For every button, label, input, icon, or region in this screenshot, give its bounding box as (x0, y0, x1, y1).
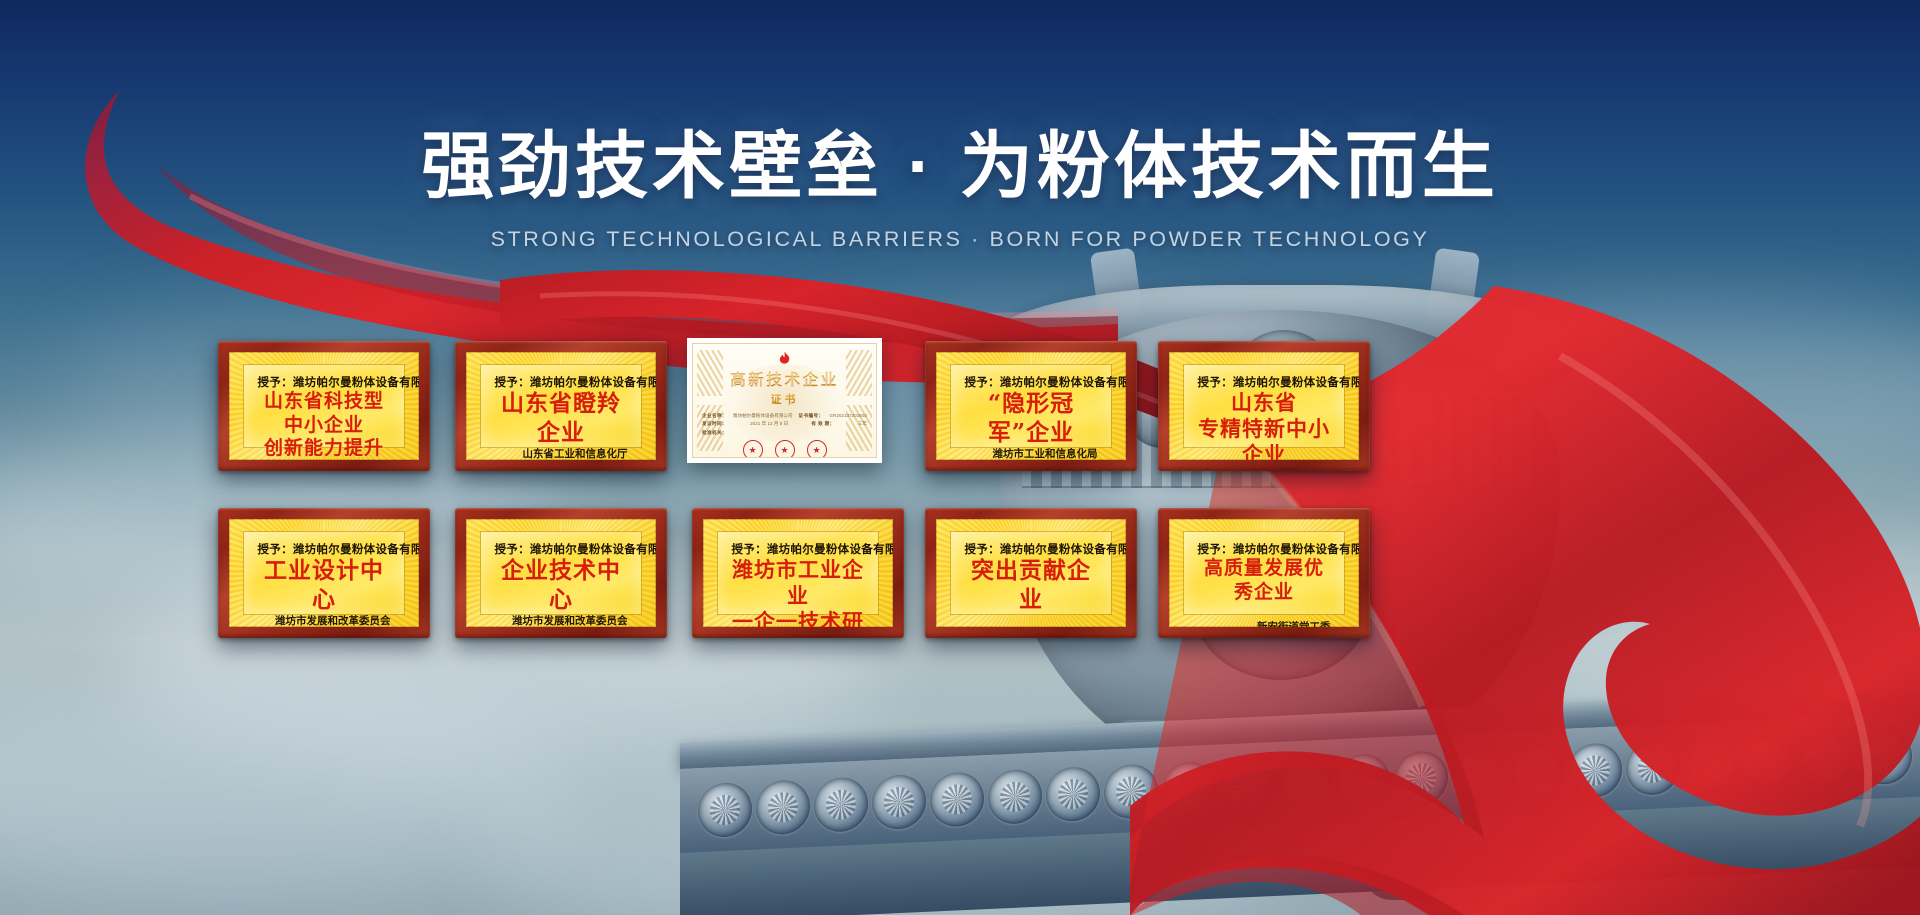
award-plaque[interactable]: 授予：潍坊帕尔曼粉体设备有限公司 山东省瞪羚企业 山东省工业和信息化厅 二〇二三… (455, 341, 667, 471)
plaque-grantee: 授予：潍坊帕尔曼粉体设备有限公司 (257, 374, 390, 390)
official-seal-icon: ★ (807, 440, 827, 458)
award-plaque[interactable]: 授予：潍坊帕尔曼粉体设备有限公司 企业技术中心 潍坊市发展和改革委员会 二〇二二… (455, 508, 667, 638)
field-value: 2021 年 12 月 8 日 (750, 420, 788, 428)
plaque-issuer: 新安街道党工委 新安街道办事处 (1197, 620, 1330, 627)
certificate-seals: ★ ★ ★ (743, 440, 827, 458)
plinth-medallion-icon (1742, 734, 1796, 790)
plinth-medallion-icon (1336, 753, 1390, 809)
field-value: 三年 (858, 420, 867, 428)
plinth-medallion-icon (756, 779, 810, 835)
certificate-title: 高新技术企业 (730, 368, 839, 390)
plaque-title-line: 一企一技术研发中心企业 (731, 609, 864, 627)
plinth-medallion-icon (698, 782, 752, 838)
plaque-issuer: 潍坊市发展和改革委员会 (494, 614, 627, 627)
field-value: 潍坊帕尔曼粉体设备有限公司 (733, 412, 793, 420)
stone-plinth (680, 725, 1920, 915)
plaque-title: 企业技术中心 (494, 557, 627, 613)
plaque-title-line: 突出贡献企业 (964, 557, 1097, 613)
plinth-medallion-icon (1104, 763, 1158, 819)
award-plaque[interactable]: 授予：潍坊帕尔曼粉体设备有限公司 突出贡献企业 中共官庄镇委 官庄镇人民政府 二… (925, 508, 1137, 638)
plaque-footer: 潍坊市发展和改革委员会 二〇二二年七月 (494, 614, 627, 627)
plinth-medallion-icon (1220, 758, 1274, 814)
plinth-medallion-icon (1394, 750, 1448, 806)
award-plaque[interactable]: 授予：潍坊帕尔曼粉体设备有限公司 潍坊市工业企业 一企一技术研发中心企业 潍坊市… (692, 508, 904, 638)
plaque-title-line: “隐形冠军”企业 (964, 390, 1097, 446)
plaque-grantee: 授予：潍坊帕尔曼粉体设备有限公司 (964, 541, 1097, 557)
field-value: GR202137201602 (829, 412, 867, 420)
page-title: 强劲技术壁垒 · 为粉体技术而生 (0, 128, 1920, 207)
plaque-title-line: 潍坊市工业企业 (731, 557, 864, 608)
headline-block: 强劲技术壁垒 · 为粉体技术而生 STRONG TECHNOLOGICAL BA… (0, 128, 1920, 252)
plaque-title-line: 高质量发展优秀企业 (1197, 557, 1330, 603)
plinth-medallion-icon (1510, 745, 1564, 801)
field-key: 发证时间： (702, 420, 727, 428)
flame-logo-icon (776, 351, 793, 367)
plaque-title: 工业设计中心 (257, 557, 390, 613)
plaque-title-line: 专精特新中小企业 (1197, 416, 1330, 460)
plaque-title: 山东省瞪羚企业 (494, 390, 627, 446)
plaque-title: 突出贡献企业 (964, 557, 1097, 613)
award-plaque[interactable]: 授予：潍坊帕尔曼粉体设备有限公司 “隐形冠军”企业 潍坊市工业和信息化局 二〇二… (925, 341, 1137, 471)
plaque-title-line: 山东省瞪羚企业 (494, 390, 627, 446)
hero-banner: 强劲技术壁垒 · 为粉体技术而生 STRONG TECHNOLOGICAL BA… (0, 0, 1920, 915)
plaque-grantee: 授予：潍坊帕尔曼粉体设备有限公司 (1197, 374, 1330, 390)
plinth-medallion-icon (1278, 755, 1332, 811)
plinth-medallion-icon (872, 774, 926, 830)
plaque-title: 山东省科技型中小企业 创新能力提升工程立项单位 (257, 390, 390, 460)
certificate-field-row: 发证时间： 2021 年 12 月 8 日 有 效 期： 三年 (702, 420, 867, 428)
plaque-grantee: 授予：潍坊帕尔曼粉体设备有限公司 (1197, 541, 1330, 557)
plaque-grantee: 授予：潍坊帕尔曼粉体设备有限公司 (257, 541, 390, 557)
official-seal-icon: ★ (775, 440, 795, 458)
plinth-medallion-icon (1800, 732, 1854, 788)
plaque-issuer: 潍坊市工业和信息化局 (964, 447, 1097, 460)
award-plaque[interactable]: 授予：潍坊帕尔曼粉体设备有限公司 高质量发展优秀企业 新安街道党工委 新安街道办… (1158, 508, 1370, 638)
plaque-grantee: 授予：潍坊帕尔曼粉体设备有限公司 (964, 374, 1097, 390)
plinth-medallion-icon (1626, 740, 1680, 796)
award-plaque[interactable]: 授予：潍坊帕尔曼粉体设备有限公司 山东省 专精特新中小企业 山东省工业和信息化厅 (1158, 341, 1370, 471)
certificate-subtitle: 证书 (771, 391, 799, 407)
plaque-grantee: 授予：潍坊帕尔曼粉体设备有限公司 (731, 541, 864, 557)
plaque-footer: 山东省工业和信息化厅 二〇二三年七月 (494, 447, 627, 460)
plaque-title-line: 企业技术中心 (494, 557, 627, 613)
plaque-issuer: 潍坊市发展和改革委员会 (257, 614, 390, 627)
field-key: 批准机关： (702, 429, 727, 437)
plaque-grantee: 授予：潍坊帕尔曼粉体设备有限公司 (494, 374, 627, 390)
plaque-title: 潍坊市工业企业 一企一技术研发中心企业 (731, 557, 864, 627)
plinth-medallion-icon (1684, 737, 1738, 793)
plinth-medallion-icon (930, 771, 984, 827)
plinth-medallion-icon (814, 776, 868, 832)
certificate-fields: 企业名称： 潍坊帕尔曼粉体设备有限公司 证书编号： GR202137201602… (693, 412, 876, 437)
certificate-field-row: 企业名称： 潍坊帕尔曼粉体设备有限公司 证书编号： GR202137201602 (702, 412, 867, 420)
plinth-medallion-icon (1858, 729, 1912, 785)
plaque-title-line: 山东省科技型中小企业 (257, 390, 390, 436)
plaque-issuer: 山东省工业和信息化厅 (494, 447, 627, 460)
plaque-footer: 潍坊市工业和信息化局 二〇二二年十一月 (964, 447, 1097, 460)
field-key: 企业名称： (702, 412, 727, 420)
plaque-title: 山东省 专精特新中小企业 (1197, 390, 1330, 460)
certificate-high-tech-enterprise[interactable]: 高新技术企业 证书 企业名称： 潍坊帕尔曼粉体设备有限公司 证书编号： GR20… (687, 338, 882, 463)
plaque-footer: 潍坊市发展和改革委员会 二〇二二年七月 (257, 614, 390, 627)
field-key: 证书编号： (799, 412, 824, 420)
page-subtitle: STRONG TECHNOLOGICAL BARRIERS · BORN FOR… (0, 227, 1920, 252)
plaque-title: “隐形冠军”企业 (964, 390, 1097, 446)
award-plaque[interactable]: 授予：潍坊帕尔曼粉体设备有限公司 山东省科技型中小企业 创新能力提升工程立项单位… (218, 341, 430, 471)
plaque-grantee: 授予：潍坊帕尔曼粉体设备有限公司 (494, 541, 627, 557)
field-key: 有 效 期： (811, 420, 834, 428)
plaque-title-line: 创新能力提升工程立项单位 (257, 437, 390, 460)
plinth-medallion-icon (1046, 766, 1100, 822)
plaque-title-line: 山东省 (1231, 390, 1297, 416)
plaque-title: 高质量发展优秀企业 (1197, 557, 1330, 603)
plaque-footer: 中共官庄镇委 官庄镇人民政府 二〇二〇年一月 (964, 614, 1097, 627)
plaque-footer: 新安街道党工委 新安街道办事处 二〇二三年二月 (1197, 604, 1330, 627)
plinth-medallion-icon (1162, 761, 1216, 817)
plinth-medallion-icon (1452, 747, 1506, 803)
plinth-medallion-icon (988, 769, 1042, 825)
award-plaque[interactable]: 授予：潍坊帕尔曼粉体设备有限公司 工业设计中心 潍坊市发展和改革委员会 二〇二二… (218, 508, 430, 638)
plinth-medallion-icon (1568, 742, 1622, 798)
official-seal-icon: ★ (743, 440, 763, 458)
plaque-title-line: 工业设计中心 (257, 557, 390, 613)
certificate-field-row: 批准机关： (702, 429, 867, 437)
